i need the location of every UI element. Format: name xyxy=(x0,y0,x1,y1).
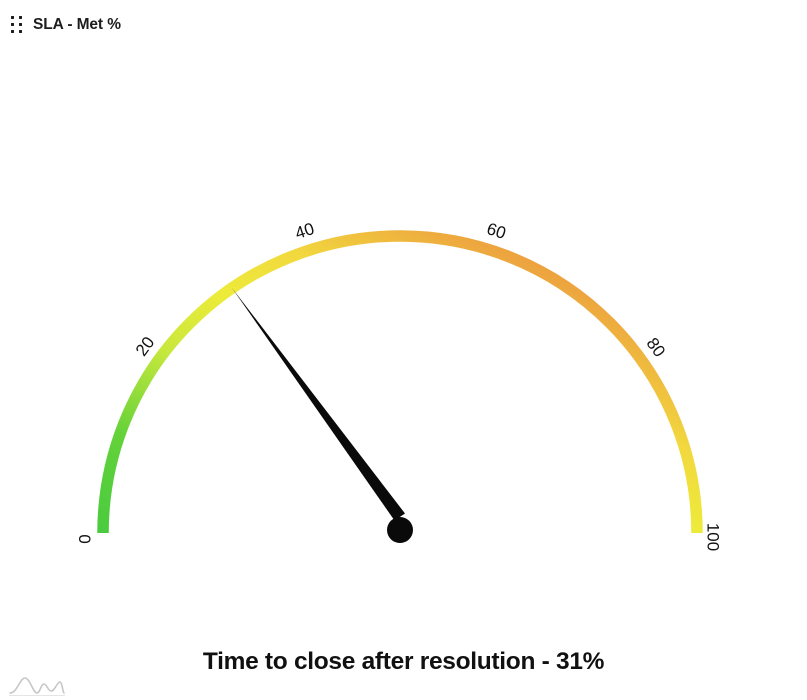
gauge-caption: Time to close after resolution - 31% xyxy=(0,648,807,676)
gauge-needle xyxy=(232,288,413,543)
page-title: SLA - Met % xyxy=(33,16,121,34)
gauge-chart: 0 20 40 60 80 100 xyxy=(0,50,807,640)
mountain-peaks-logo-icon xyxy=(8,668,66,698)
gauge-tick-labels: 0 20 40 60 80 100 xyxy=(75,219,722,551)
gauge-tick-40: 40 xyxy=(293,219,317,243)
gauge-tick-0: 0 xyxy=(75,534,94,543)
widget-header: SLA - Met % xyxy=(0,0,807,50)
gauge-arc xyxy=(103,236,697,533)
gauge-svg: 0 20 40 60 80 100 xyxy=(0,50,807,640)
gauge-needle-hub xyxy=(387,517,413,543)
drag-dots-icon[interactable] xyxy=(10,16,24,34)
gauge-tick-80: 80 xyxy=(643,334,669,360)
gauge-needle-pointer xyxy=(232,288,405,521)
gauge-tick-60: 60 xyxy=(484,219,508,243)
gauge-tick-20: 20 xyxy=(132,333,158,359)
gauge-tick-100: 100 xyxy=(704,523,723,551)
